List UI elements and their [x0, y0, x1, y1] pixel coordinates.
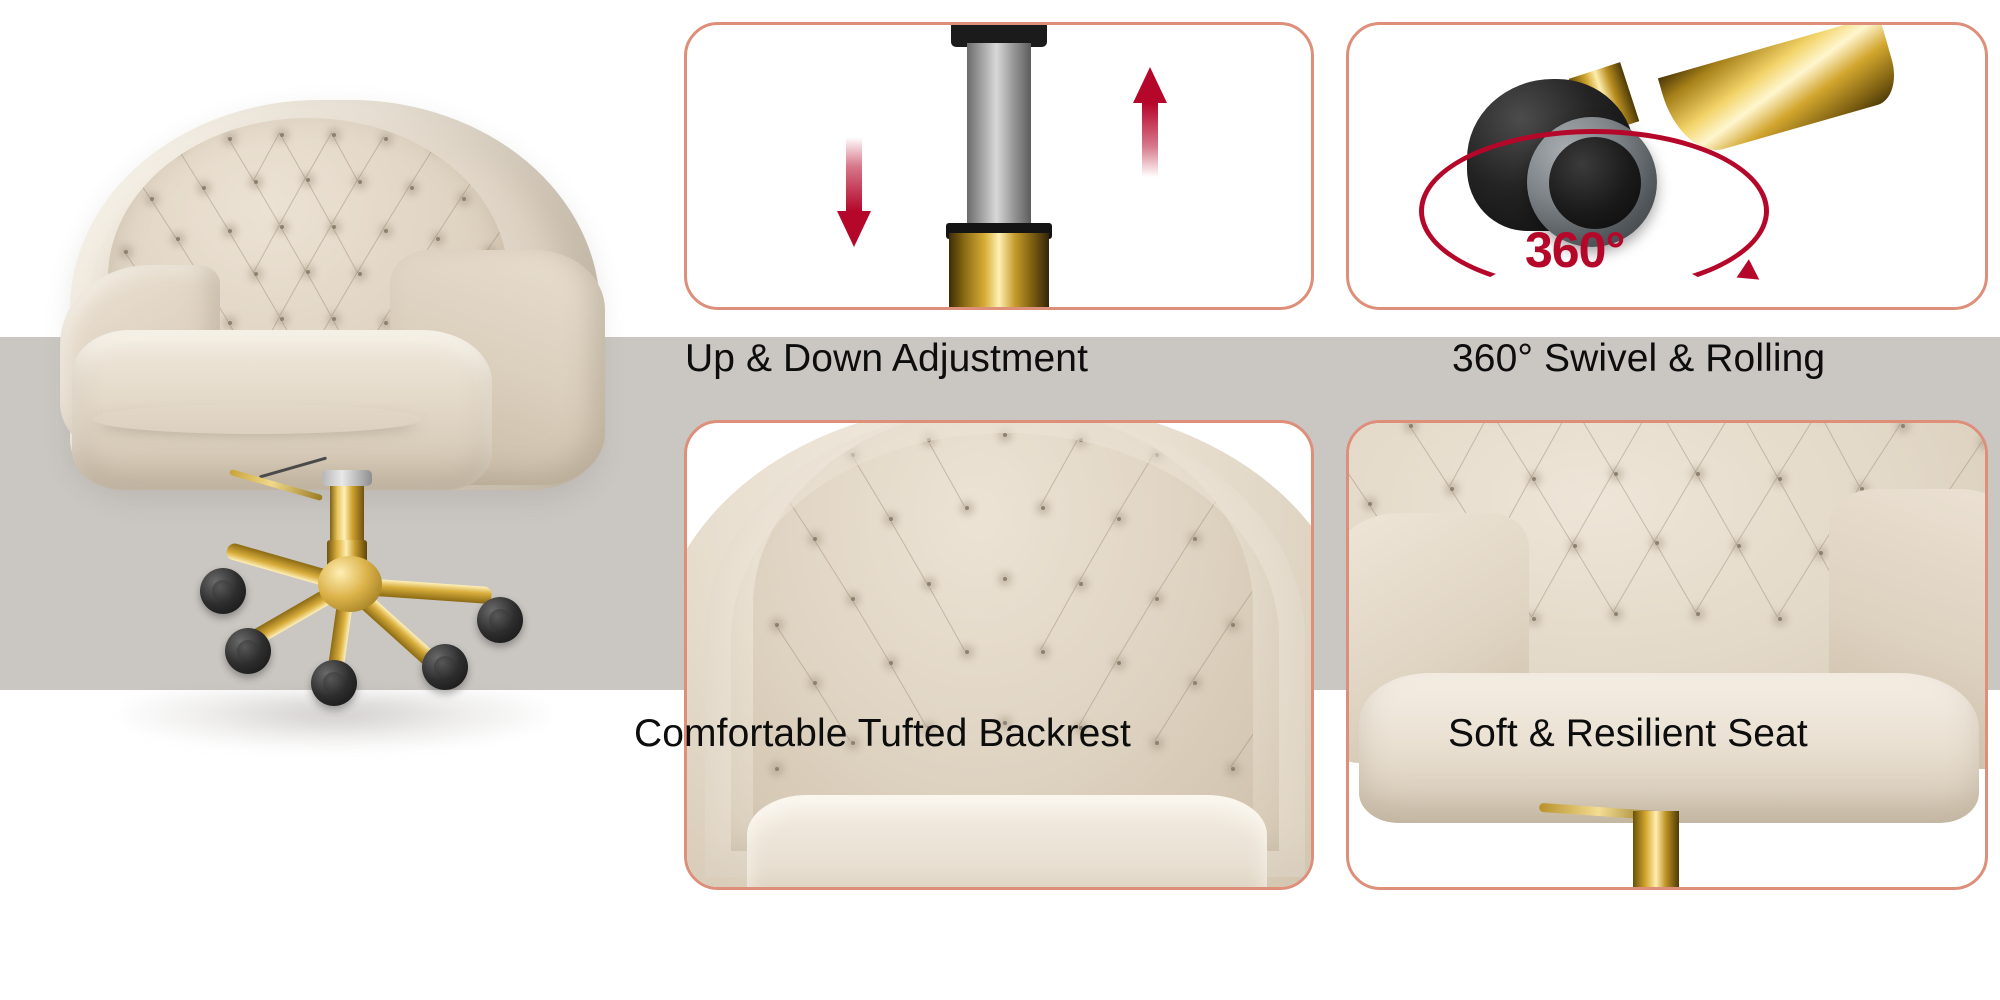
caption-swivel-rolling: 360° Swivel & Rolling	[1452, 337, 1825, 381]
hero-product-image	[0, 0, 660, 1000]
down-arrow-icon	[837, 137, 871, 257]
panel-tufted-backrest[interactable]	[684, 420, 1314, 890]
seat-panel-gas-lift	[1633, 811, 1679, 890]
caster-2	[225, 628, 271, 674]
cylinder-gold-collar	[949, 233, 1049, 310]
rotation-arrowhead-icon	[1737, 259, 1766, 288]
gas-cylinder	[330, 486, 364, 544]
backrest-panel-seat	[747, 795, 1267, 890]
feature-panel-grid: 360°	[672, 0, 2000, 1000]
caption-up-down-adjustment: Up & Down Adjustment	[685, 337, 1088, 381]
caster-1	[200, 568, 246, 614]
caster-gold-leg	[1658, 22, 1903, 161]
panel-resilient-seat[interactable]	[1346, 420, 1988, 890]
gas-cylinder-top	[322, 470, 372, 486]
caption-tufted-backrest: Comfortable Tufted Backrest	[634, 712, 1131, 756]
caster-5	[477, 597, 523, 643]
panel-up-down-adjustment[interactable]	[684, 22, 1314, 310]
badge-360: 360°	[1525, 221, 1624, 279]
chair-base-hub	[318, 556, 382, 612]
infographic-canvas: 360° Up & Down Adjustment 360° Swivel & …	[0, 0, 2000, 1000]
cylinder-tube	[967, 43, 1031, 233]
up-arrow-icon	[1133, 67, 1167, 187]
seat-crease	[92, 404, 422, 434]
caption-resilient-seat: Soft & Resilient Seat	[1448, 712, 1808, 756]
caster-3	[311, 660, 357, 706]
caster-4	[422, 644, 468, 690]
panel-swivel-rolling[interactable]: 360°	[1346, 22, 1988, 310]
